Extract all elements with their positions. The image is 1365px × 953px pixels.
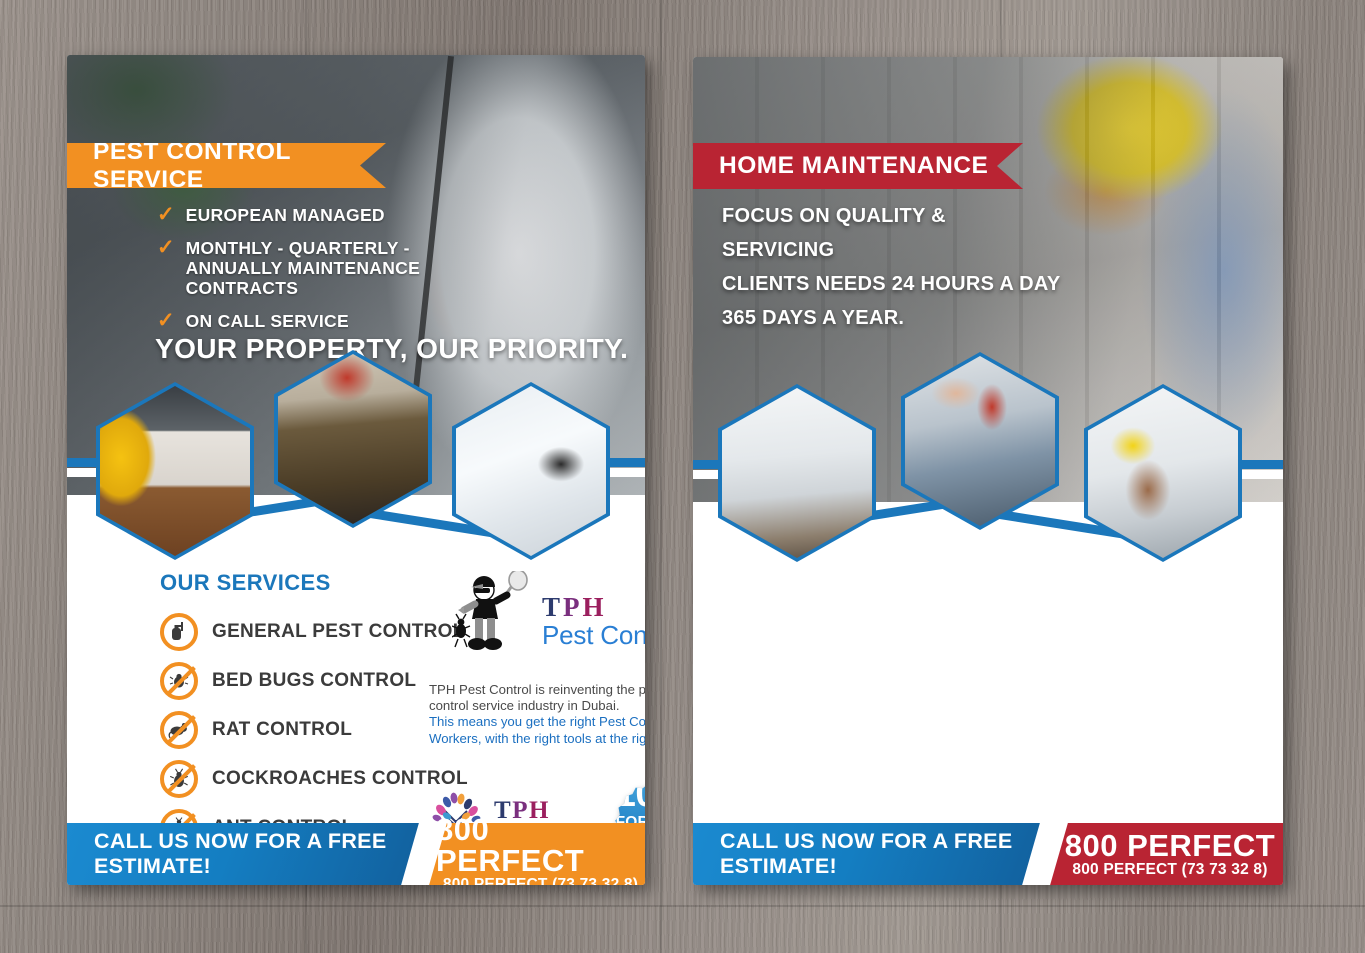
check-icon: ✓ xyxy=(157,206,175,223)
check-icon: ✓ xyxy=(157,312,175,329)
footer-cta-label: CALL US NOW FOR A FREE ESTIMATE! xyxy=(720,829,1045,879)
footer-cta-panel[interactable]: CALL US NOW FOR A FREE ESTIMATE! xyxy=(693,823,1045,885)
list-item-label: GENERAL PEST CONTROL xyxy=(212,621,465,643)
bullet-label: ON CALL SERVICE xyxy=(186,311,349,331)
list-item[interactable]: GENERAL PEST CONTROL xyxy=(160,607,468,656)
pest-control-flyer: PEST CONTROL SERVICE ✓ EUROPEAN MANAGED … xyxy=(67,55,645,885)
blurb-blue: This means you get the right Pest Contro… xyxy=(429,714,645,746)
no-rat-icon xyxy=(160,711,198,749)
no-cockroach-icon xyxy=(160,760,198,798)
list-item-label: COCKROACHES CONTROL xyxy=(212,768,468,790)
footer-phone-number: 800 PERFECT xyxy=(1065,830,1276,861)
no-bedbug-icon xyxy=(160,662,198,700)
our-services-heading: OUR SERVICES xyxy=(160,570,331,596)
footer-phone-digits: 800 PERFECT (73 73 32 8) xyxy=(443,876,638,885)
bullet-label: EUROPEAN MANAGED xyxy=(186,205,385,225)
footer-call-bar: CALL US NOW FOR A FREE ESTIMATE! 800 PER… xyxy=(693,823,1283,885)
footer-phone-number: 800 PERFECT xyxy=(436,814,645,876)
hexagon-photo-inner xyxy=(905,356,1055,526)
hero-paragraph-line-2: CLIENTS NEEDS 24 HOURS A DAY xyxy=(722,267,1062,301)
check-icon: ✓ xyxy=(157,239,175,256)
footer-cta-label: CALL US NOW FOR A FREE ESTIMATE! xyxy=(94,829,424,879)
list-item[interactable]: BED BUGS CONTROL xyxy=(160,656,468,705)
home-services-content xyxy=(693,502,1283,827)
bullet-item: ✓ ON CALL SERVICE xyxy=(157,311,597,331)
footer-cta-panel[interactable]: CALL US NOW FOR A FREE ESTIMATE! xyxy=(67,823,424,885)
footer-phone-digits: 800 PERFECT (73 73 32 8) xyxy=(1072,861,1267,879)
pest-services-list: GENERAL PEST CONTROL BED BUGS CONTROL RA… xyxy=(160,607,468,852)
bullet-item: ✓ MONTHLY - QUARTERLY - ANNUALLY MAINTEN… xyxy=(157,238,597,298)
hero-paragraph: FOCUS ON QUALITY & SERVICING CLIENTS NEE… xyxy=(722,199,1062,335)
plank-seam xyxy=(0,905,1365,907)
plank-seam xyxy=(660,0,662,953)
bullet-item: ✓ EUROPEAN MANAGED xyxy=(157,205,597,225)
hero-tagline: YOUR PROPERTY, OUR PRIORITY. xyxy=(155,333,628,365)
ribbon-pest-control: PEST CONTROL SERVICE xyxy=(67,143,386,188)
tph-pest-control-brand: TPH Pest Control xyxy=(452,571,645,657)
hero-bullet-list: ✓ EUROPEAN MANAGED ✓ MONTHLY - QUARTERLY… xyxy=(157,205,597,344)
home-maintenance-flyer: HOME MAINTENANCE FOCUS ON QUALITY & SERV… xyxy=(693,57,1283,885)
ribbon-label: PEST CONTROL SERVICE xyxy=(93,138,366,194)
discount-percent: 10% xyxy=(615,777,645,811)
ribbon-home-maintenance: HOME MAINTENANCE xyxy=(693,143,1023,189)
hero-paragraph-line-3: 365 DAYS A YEAR. xyxy=(722,301,1062,335)
bullet-label: MONTHLY - QUARTERLY - ANNUALLY MAINTENAN… xyxy=(186,238,506,298)
footer-phone-panel[interactable]: 800 PERFECT 800 PERFECT (73 73 32 8) xyxy=(424,823,645,885)
pest-blurb: TPH Pest Control is reinventing the pest… xyxy=(429,682,645,747)
hero-paragraph-line-1: FOCUS ON QUALITY & SERVICING xyxy=(722,199,1062,267)
electrical-wiring-test-photo xyxy=(905,356,1055,526)
blurb-grey: TPH Pest Control is reinventing the pest… xyxy=(429,682,645,714)
list-item-label: RAT CONTROL xyxy=(212,719,352,741)
tph-wordmark: TPH xyxy=(542,593,645,621)
list-item[interactable]: RAT CONTROL xyxy=(160,705,468,754)
footer-phone-panel[interactable]: 800 PERFECT 800 PERFECT (73 73 32 8) xyxy=(1045,823,1283,885)
brand-subtitle: Pest Control xyxy=(542,621,645,649)
footer-call-bar: CALL US NOW FOR A FREE ESTIMATE! 800 PER… xyxy=(67,823,645,885)
ribbon-label: HOME MAINTENANCE xyxy=(719,152,988,180)
sprayer-icon xyxy=(160,613,198,651)
list-item[interactable]: COCKROACHES CONTROL xyxy=(160,754,468,803)
pest-control-mascot-icon xyxy=(452,571,536,657)
list-item-label: BED BUGS CONTROL xyxy=(212,670,416,692)
